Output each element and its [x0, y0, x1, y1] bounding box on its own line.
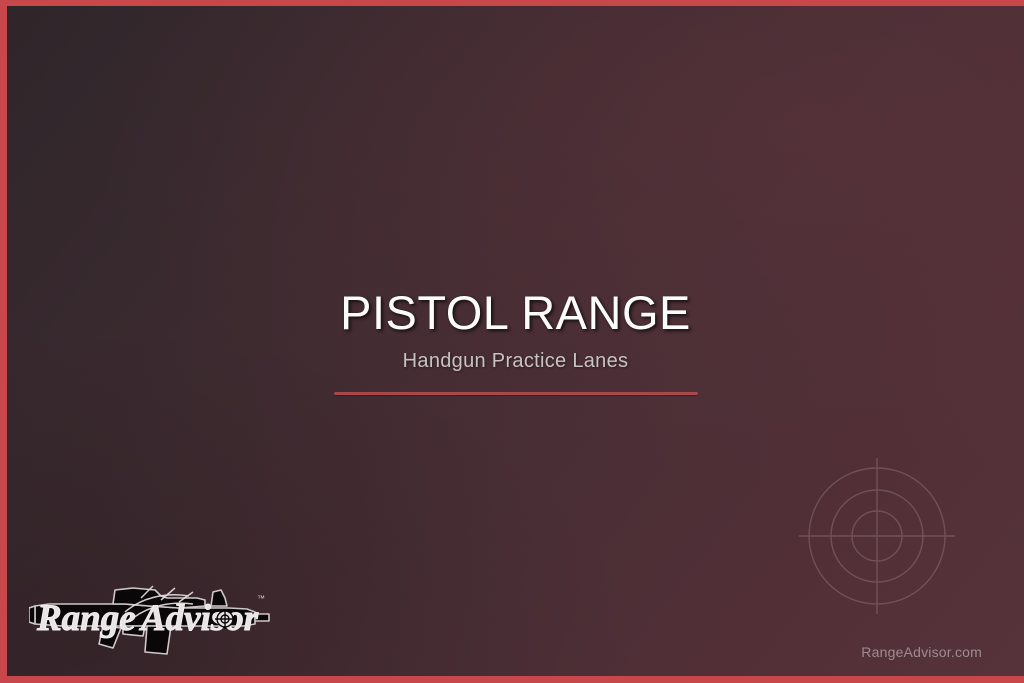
- brand-logo: Range Advisor ™: [29, 568, 273, 664]
- title-block: PISTOL RANGE Handgun Practice Lanes: [7, 288, 1024, 395]
- logo-trademark-mark: ™: [257, 594, 265, 603]
- slide-title: PISTOL RANGE: [7, 288, 1024, 337]
- presentation-slide: PISTOL RANGE Handgun Practice Lanes Rang…: [0, 0, 1024, 683]
- slide-subtitle: Handgun Practice Lanes: [7, 350, 1024, 373]
- footer-website-url: RangeAdvisor.com: [861, 644, 982, 660]
- target-reticle-icon: [797, 456, 957, 616]
- title-divider: [334, 392, 698, 395]
- logo-wordmark-advisor: Advisor: [139, 598, 259, 639]
- logo-wordmark-range: Range: [36, 598, 136, 639]
